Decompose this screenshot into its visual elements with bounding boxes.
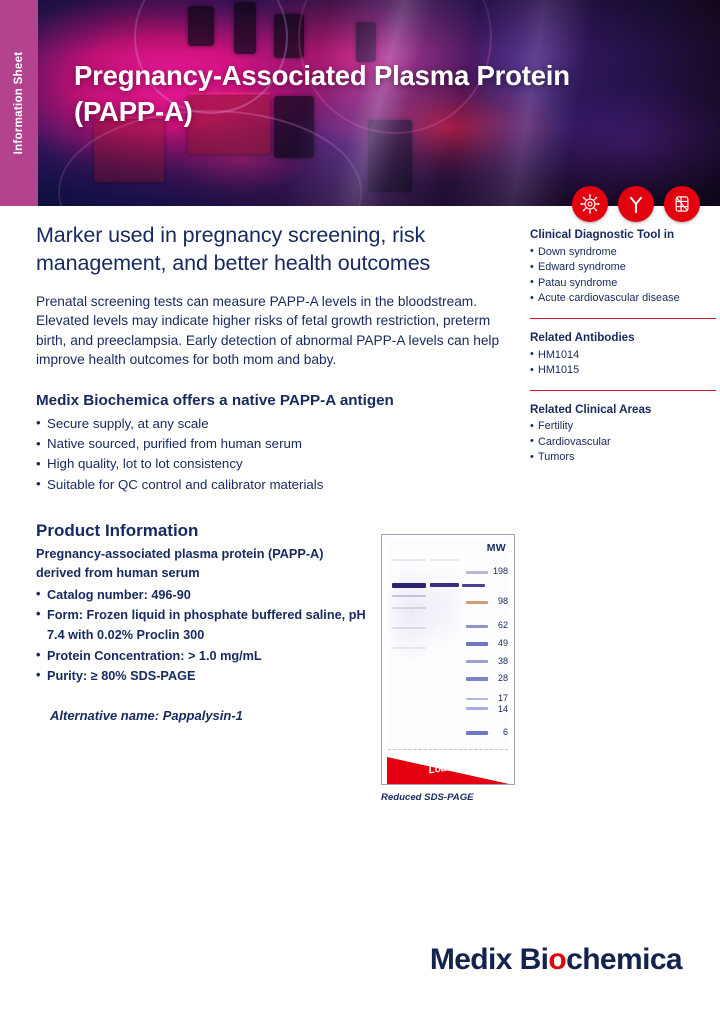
mw-marker-label: 14	[486, 704, 508, 714]
gel-band	[462, 584, 485, 587]
list-item: Suitable for QC control and calibrator m…	[36, 475, 516, 495]
list-item-label: Catalog number: 496-90	[47, 588, 191, 602]
sidebar-divider	[530, 318, 716, 319]
list-item-label: Acute cardiovascular disease	[538, 292, 680, 304]
gel-band	[430, 583, 459, 587]
sidebar-block-related-antibodies: Related Antibodies HM1014 HM1015	[530, 331, 716, 379]
list-item: Native sourced, purified from human seru…	[36, 434, 516, 454]
list-item: Acute cardiovascular disease	[530, 291, 716, 306]
offers-list: Secure supply, at any scale Native sourc…	[36, 414, 516, 495]
list-item-label: Down syndrome	[538, 246, 617, 258]
page-title: Pregnancy-Associated Plasma Protein (PAP…	[74, 58, 594, 130]
logo-text-part1: Medix Bi	[430, 943, 549, 976]
gel-band	[392, 595, 426, 597]
mw-marker-label: 98	[486, 596, 508, 606]
sidebar-list: Down syndrome Edward syndrome Patau synd…	[530, 245, 716, 307]
list-item-label: Secure supply, at any scale	[47, 416, 209, 431]
mw-marker-label: 6	[486, 727, 508, 737]
antibody-icon	[618, 186, 654, 222]
list-item-label: Edward syndrome	[538, 261, 626, 273]
ladder-band	[466, 660, 488, 663]
gel-divider	[388, 749, 508, 750]
list-item: Cardiovascular	[530, 435, 716, 450]
gel-band	[392, 583, 426, 588]
lead-heading: Marker used in pregnancy screening, risk…	[36, 222, 516, 278]
gel-caption: Reduced SDS-PAGE	[381, 792, 515, 803]
offers-heading: Medix Biochemica offers a native PAPP-A …	[36, 392, 516, 409]
list-item: HM1015	[530, 363, 716, 378]
gel-band	[392, 607, 426, 609]
virus-icon	[572, 186, 608, 222]
list-item: Edward syndrome	[530, 260, 716, 275]
mw-column-label: MW	[487, 542, 506, 554]
product-list: Catalog number: 496-90 Form: Frozen liqu…	[36, 585, 366, 687]
sidebar-list: HM1014 HM1015	[530, 348, 716, 379]
list-item: Catalog number: 496-90	[36, 585, 366, 605]
list-item-label: Form: Frozen liquid in phosphate buffere…	[47, 608, 366, 642]
sidebar-heading: Related Clinical Areas	[530, 403, 716, 418]
information-sheet-tab: Information Sheet	[0, 0, 38, 206]
ladder-band	[466, 707, 488, 710]
ladder-band	[466, 642, 488, 646]
ladder-band	[466, 625, 488, 628]
list-item: Down syndrome	[530, 245, 716, 260]
mw-marker-label: 17	[486, 693, 508, 703]
ladder-band	[466, 601, 488, 604]
list-item-label: HM1015	[538, 364, 579, 376]
gel-band	[392, 627, 426, 629]
sidebar-heading: Clinical Diagnostic Tool in	[530, 228, 716, 243]
mw-marker-label: 38	[486, 656, 508, 666]
list-item-label: Purity: ≥ 80% SDS-PAGE	[47, 669, 195, 683]
list-item-label: Patau syndrome	[538, 277, 617, 289]
list-item: Purity: ≥ 80% SDS-PAGE	[36, 666, 366, 686]
mw-marker-label: 62	[486, 620, 508, 630]
ladder-band	[466, 677, 488, 681]
ladder-band	[466, 571, 488, 574]
list-item-label: Suitable for QC control and calibrator m…	[47, 477, 323, 492]
mw-marker-label: 49	[486, 638, 508, 648]
intro-paragraph: Prenatal screening tests can measure PAP…	[36, 292, 516, 370]
list-item: Secure supply, at any scale	[36, 414, 516, 434]
list-item: Fertility	[530, 419, 716, 434]
logo-text-part2: chemica	[566, 943, 682, 976]
list-item-label: Fertility	[538, 420, 573, 432]
product-subtitle: Pregnancy-associated plasma protein (PAP…	[36, 545, 366, 583]
loading-gradient-wedge: Loading	[387, 757, 509, 784]
list-item: Tumors	[530, 450, 716, 465]
list-item: HM1014	[530, 348, 716, 363]
medix-biochemica-logo: Medix Biochemica	[430, 943, 682, 977]
list-item-label: HM1014	[538, 349, 579, 361]
sidebar-block-related-clinical-areas: Related Clinical Areas Fertility Cardiov…	[530, 403, 716, 466]
list-item-label: Tumors	[538, 451, 575, 463]
gel-band	[430, 559, 459, 561]
list-item: Protein Concentration: > 1.0 mg/mL	[36, 646, 366, 666]
sidebar-heading: Related Antibodies	[530, 331, 716, 346]
header-icon-row	[572, 186, 700, 222]
page-header: Information Sheet Pregnancy-Associated P…	[0, 0, 720, 206]
list-item: High quality, lot to lot consistency	[36, 454, 516, 474]
list-item-label: Cardiovascular	[538, 436, 611, 448]
list-item: Patau syndrome	[530, 276, 716, 291]
list-item-label: Native sourced, purified from human seru…	[47, 436, 302, 451]
protein-antigen-icon	[664, 186, 700, 222]
mw-marker-label: 198	[486, 566, 508, 576]
list-item: Form: Frozen liquid in phosphate buffere…	[36, 605, 366, 646]
list-item-label: Protein Concentration: > 1.0 mg/mL	[47, 649, 262, 663]
logo-accent-o: o	[548, 943, 566, 976]
gel-band	[392, 559, 426, 561]
gel-band	[392, 647, 426, 649]
gel-image: MW 198 98 62 49 38 28 17 14 6 L	[381, 534, 515, 785]
mw-marker-label: 28	[486, 673, 508, 683]
sidebar-block-clinical-diagnostic-tool: Clinical Diagnostic Tool in Down syndrom…	[530, 228, 716, 307]
sds-page-figure: MW 198 98 62 49 38 28 17 14 6 L	[381, 534, 515, 803]
sidebar-list: Fertility Cardiovascular Tumors	[530, 419, 716, 465]
sidebar: Clinical Diagnostic Tool in Down syndrom…	[530, 228, 716, 466]
ladder-band	[466, 698, 488, 700]
list-item-label: High quality, lot to lot consistency	[47, 456, 243, 471]
information-sheet-tab-label: Information Sheet	[13, 52, 25, 155]
ladder-band	[466, 731, 488, 735]
sidebar-divider	[530, 390, 716, 391]
